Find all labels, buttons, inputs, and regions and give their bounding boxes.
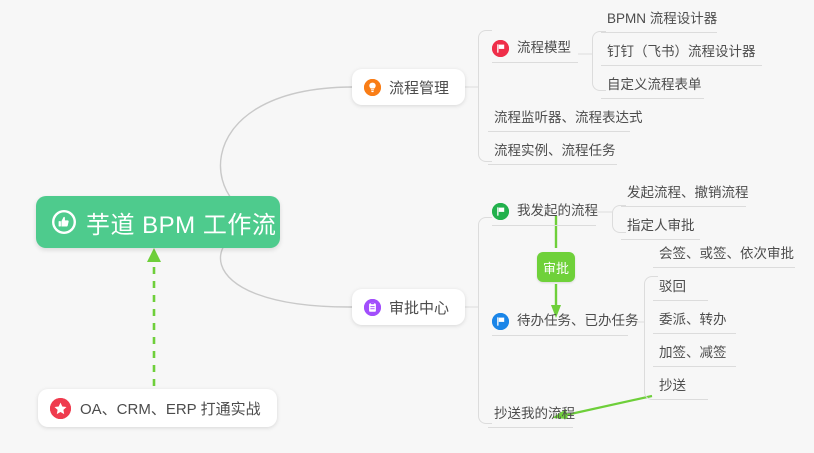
clipboard-icon [364,299,381,316]
leaf-assignee-approval[interactable]: 指定人审批 [621,218,700,240]
node-label-my-initiated-processes: 我发起的流程 [517,203,598,220]
leaf-bpmn-designer[interactable]: BPMN 流程设计器 [601,11,717,33]
flag-icon-blue [492,313,509,330]
leaf-cc-to-me[interactable]: 抄送我的流程 [488,406,573,428]
node-process-model[interactable]: 流程模型 [492,40,578,63]
mindmap-canvas: 芋道 BPM 工作流 流程管理 流程模型 BPMN 流程设计器 钉钉（飞书）流 [0,0,814,453]
star-icon [50,398,71,419]
branch-label-process-management: 流程管理 [389,77,449,98]
node-todo-done-tasks[interactable]: 待办任务、已办任务 [492,313,628,336]
leaf-cc[interactable]: 抄送 [653,378,708,400]
node-my-initiated-processes[interactable]: 我发起的流程 [492,203,596,226]
thumbs-up-icon [52,210,76,234]
tag-label-integration: OA、CRM、ERP 打通实战 [80,398,261,419]
leaf-process-listener[interactable]: 流程监听器、流程表达式 [488,110,630,132]
annotation-badge-label: 审批 [543,258,569,277]
branch-node-process-management[interactable]: 流程管理 [352,69,465,105]
tag-node-integration[interactable]: OA、CRM、ERP 打通实战 [38,389,277,427]
leaf-add-remove-sign[interactable]: 加签、减签 [653,345,736,367]
branch-node-approval-center[interactable]: 审批中心 [352,289,465,325]
flag-icon-red [492,40,509,57]
node-label-process-model: 流程模型 [517,40,571,57]
root-node[interactable]: 芋道 BPM 工作流 [36,196,280,248]
leaf-dingtalk-designer[interactable]: 钉钉（飞书）流程设计器 [601,44,762,66]
root-label: 芋道 BPM 工作流 [86,205,276,240]
flag-icon-green [492,203,509,220]
lightbulb-icon [364,79,381,96]
leaf-process-instance[interactable]: 流程实例、流程任务 [488,143,617,165]
leaf-start-cancel-process[interactable]: 发起流程、撤销流程 [621,185,746,207]
node-label-todo-done-tasks: 待办任务、已办任务 [517,313,639,330]
leaf-custom-form[interactable]: 自定义流程表单 [601,77,704,99]
branch-label-approval-center: 审批中心 [389,297,449,318]
leaf-reject[interactable]: 驳回 [653,279,708,301]
annotation-badge-approve: 审批 [537,252,575,282]
leaf-delegate-transfer[interactable]: 委派、转办 [653,312,736,334]
leaf-countersign[interactable]: 会签、或签、依次审批 [653,246,795,268]
group-bracket-approval-center [478,217,492,424]
